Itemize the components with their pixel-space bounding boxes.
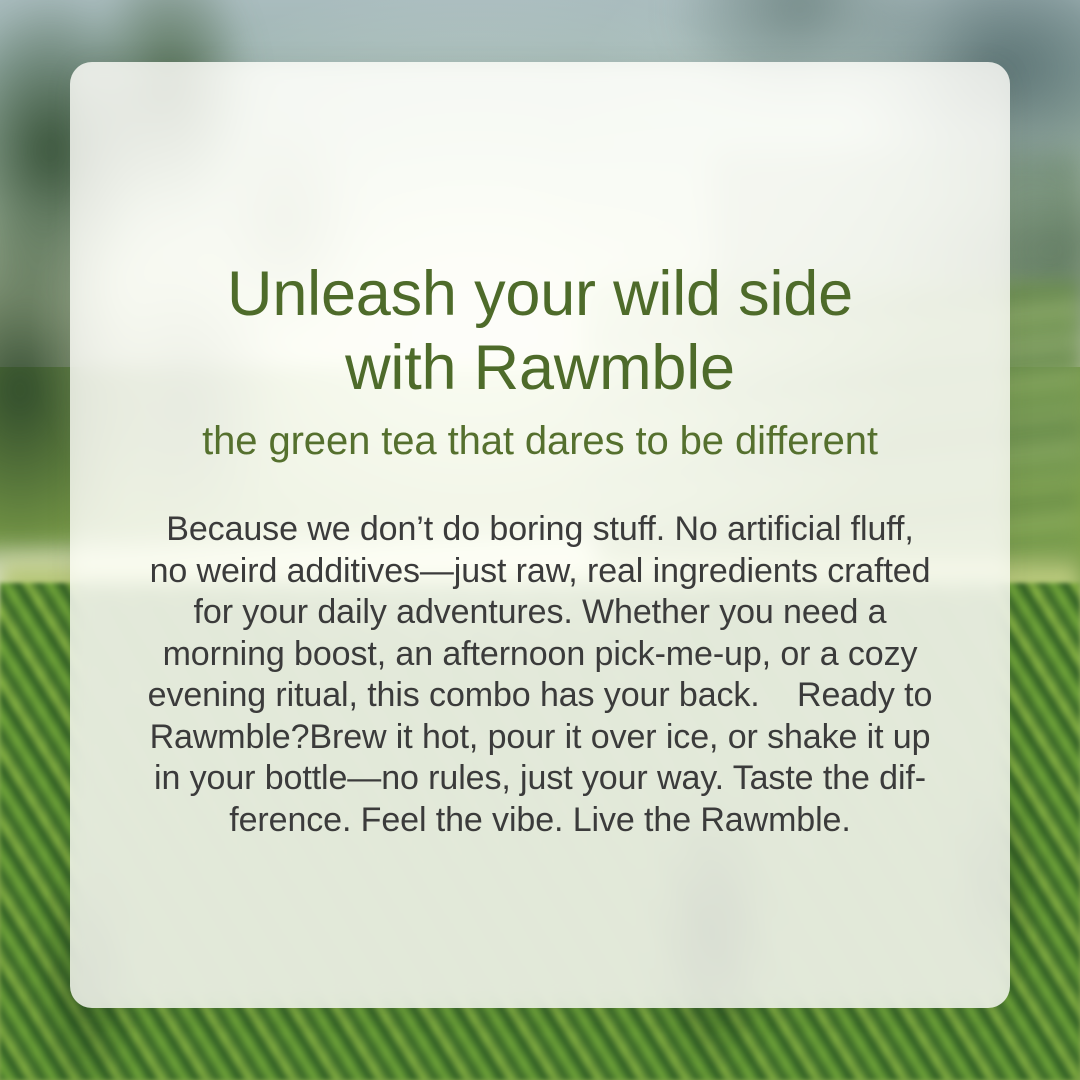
page-title: Unleash your wild side with Rawmble [227, 62, 853, 405]
body-line-6: Rawmble?Brew it hot, pour it over ice, o… [134, 717, 946, 758]
body-copy: Because we don’t do boring stuff. No art… [134, 509, 946, 841]
content-card: Unleash your wild side with Rawmble the … [70, 62, 1010, 1008]
body-line-5: evening ritual, this combo has your back… [134, 675, 946, 716]
page-subtitle: the green tea that dares to be different [202, 417, 878, 465]
body-line-8: ference. Feel the vibe. Live the Rawmble… [134, 800, 946, 841]
headline-line-2: with Rawmble [227, 332, 853, 406]
promo-poster: Unleash your wild side with Rawmble the … [0, 0, 1080, 1080]
body-line-1: Because we don’t do boring stuff. No art… [134, 509, 946, 550]
body-line-4: morning boost, an afternoon pick-me-up, … [134, 634, 946, 675]
headline-line-1: Unleash your wild side [227, 258, 853, 332]
body-line-2: no weird additives—just raw, real ingred… [134, 551, 946, 592]
body-line-7: in your bottle—no rules, just your way. … [134, 758, 946, 799]
body-line-3: for your daily adventures. Whether you n… [134, 592, 946, 633]
